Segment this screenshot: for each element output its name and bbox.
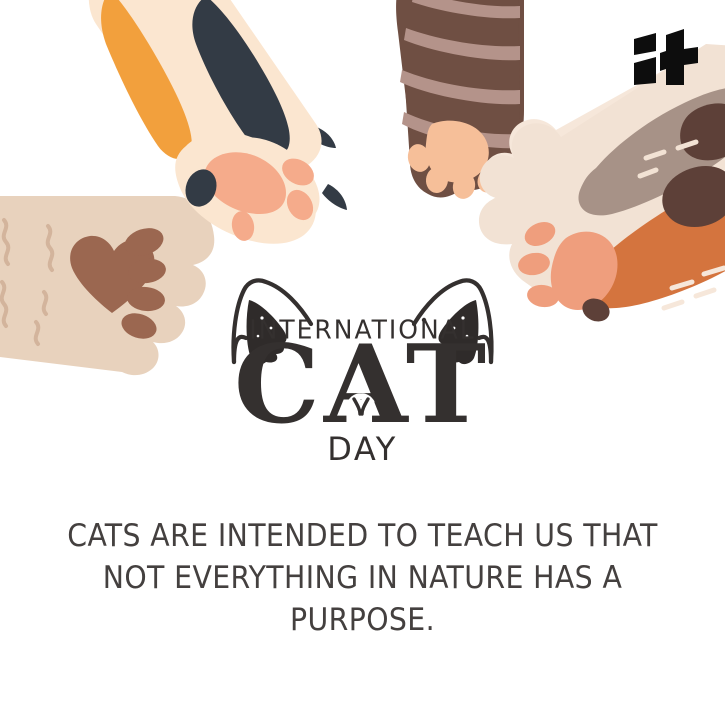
- poster-canvas: INTERNATIONAL CAT DAY: [0, 0, 725, 725]
- logo-cat-wordmark: CAT: [0, 340, 725, 440]
- quote-text: CATS ARE INTENDED TO TEACH US THAT NOT E…: [50, 515, 675, 641]
- logo-bottom-line: DAY: [0, 430, 725, 468]
- quote-line-1: CATS ARE INTENDED TO TEACH US THAT: [50, 515, 675, 557]
- logo-main-word-wrap: CAT: [0, 340, 725, 440]
- quote-line-2: NOT EVERYTHING IN NATURE HAS A: [50, 557, 675, 599]
- quote-line-3: PURPOSE.: [50, 599, 675, 641]
- logo-lockup: INTERNATIONAL CAT DAY: [0, 266, 725, 482]
- i-plus-logo-icon: [632, 27, 698, 89]
